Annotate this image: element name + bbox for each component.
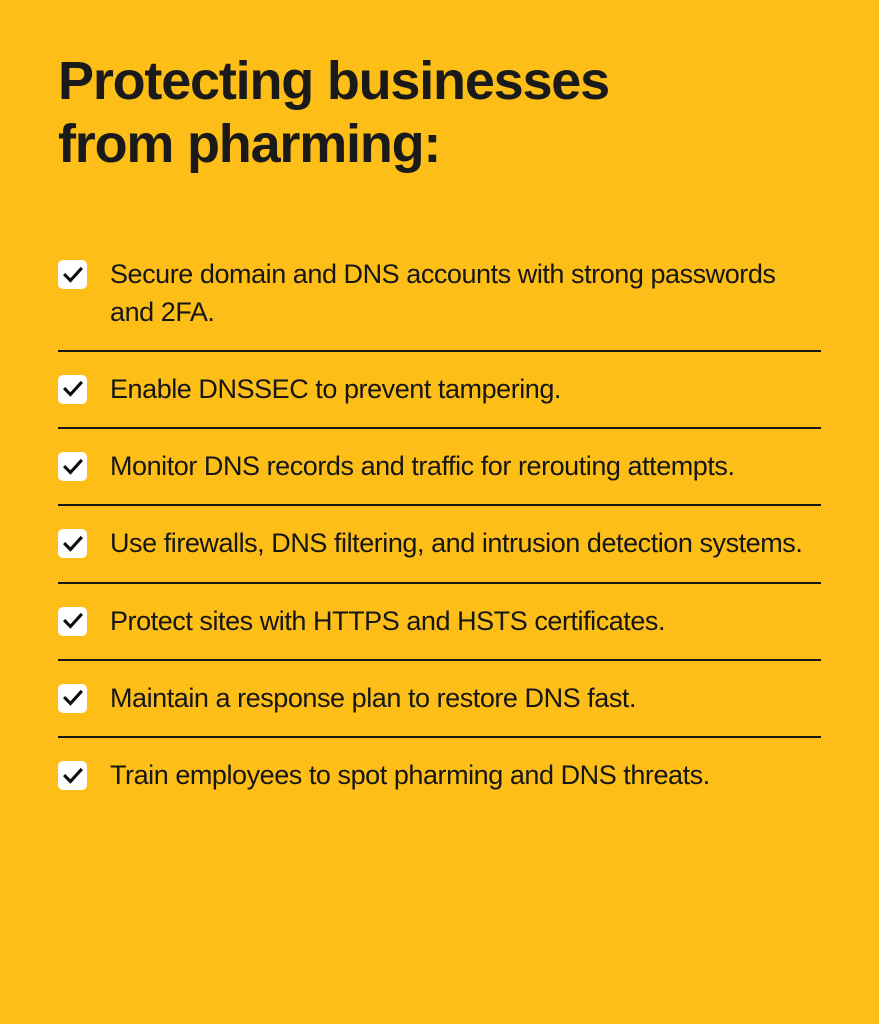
list-item[interactable]: Use firewalls, DNS filtering, and intrus…: [58, 506, 821, 581]
list-item[interactable]: Monitor DNS records and traffic for rero…: [58, 429, 821, 504]
list-item-label: Protect sites with HTTPS and HSTS certif…: [110, 603, 665, 640]
checkmark-icon: [58, 607, 87, 636]
checkmark-icon: [58, 260, 87, 289]
protection-checklist: Secure domain and DNS accounts with stro…: [58, 237, 821, 813]
list-item[interactable]: Protect sites with HTTPS and HSTS certif…: [58, 584, 821, 659]
list-item[interactable]: Maintain a response plan to restore DNS …: [58, 661, 821, 736]
checkmark-icon: [58, 684, 87, 713]
checkmark-icon: [58, 452, 87, 481]
checkmark-icon: [58, 529, 87, 558]
list-item[interactable]: Secure domain and DNS accounts with stro…: [58, 237, 821, 350]
list-item-label: Secure domain and DNS accounts with stro…: [110, 256, 810, 331]
list-item[interactable]: Enable DNSSEC to prevent tampering.: [58, 352, 821, 427]
page-title-heading: Protecting businessesfrom pharming:: [58, 50, 698, 175]
page-title-line-2: from pharming:: [58, 113, 698, 176]
list-item-label: Monitor DNS records and traffic for rero…: [110, 448, 735, 485]
list-item-label: Train employees to spot pharming and DNS…: [110, 757, 710, 794]
checkmark-icon: [58, 375, 87, 404]
checkmark-icon: [58, 761, 87, 790]
pharming-protection-infographic: Protecting businessesfrom pharming: Secu…: [0, 0, 879, 1024]
page-title-line-1: Protecting businesses: [58, 50, 698, 113]
list-item-label: Enable DNSSEC to prevent tampering.: [110, 371, 561, 408]
list-item-label: Maintain a response plan to restore DNS …: [110, 680, 636, 717]
page-title: Protecting businessesfrom pharming:: [58, 0, 821, 175]
list-item[interactable]: Train employees to spot pharming and DNS…: [58, 738, 821, 813]
list-item-label: Use firewalls, DNS filtering, and intrus…: [110, 525, 802, 562]
